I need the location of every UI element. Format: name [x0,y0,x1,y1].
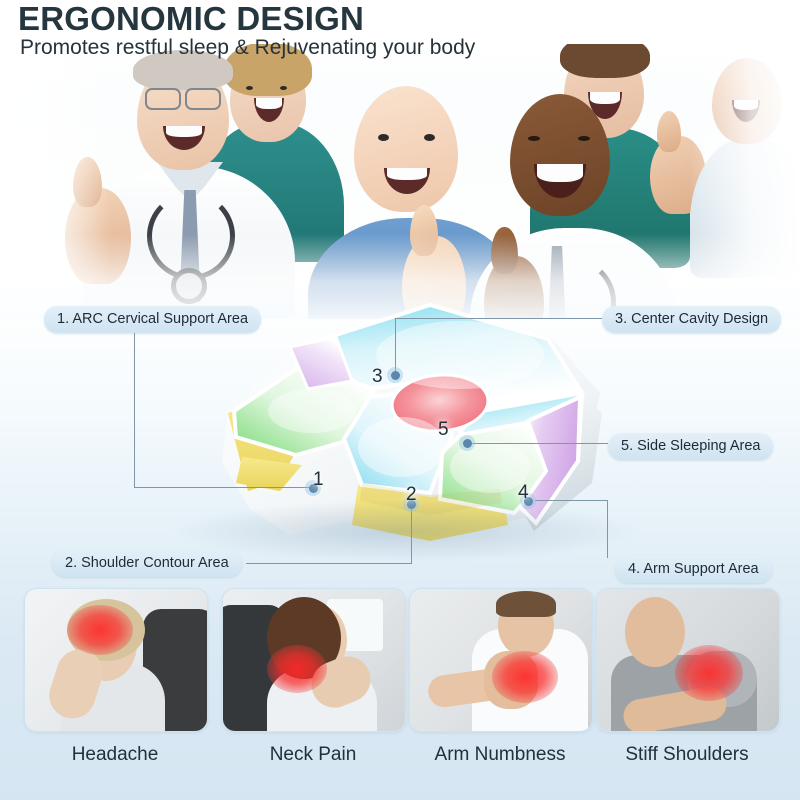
callout-number-5: 5 [438,419,449,441]
doctors-team-photo [0,44,800,319]
condition-card-headache[interactable]: Headache [24,588,206,766]
pain-highlight [492,651,558,703]
infographic-page: ERGONOMIC DESIGN Promotes restful sleep … [0,0,800,800]
condition-card-stiff-shoulders[interactable]: Stiff Shoulders [596,588,778,766]
eyeglasses [185,88,221,110]
eye-left [528,136,540,141]
eye-right [424,134,435,141]
condition-image-stiff-shoulders [596,588,780,732]
callout-dot-5[interactable] [459,435,475,451]
pain-highlight [267,645,327,693]
callout-label-1[interactable]: 1. ARC Cervical Support Area [44,306,261,333]
hair [496,591,556,617]
callout-label-4[interactable]: 4. Arm Support Area [615,556,772,583]
callout-connector-3 [395,318,602,378]
condition-card-neck-pain[interactable]: Neck Pain [222,588,404,766]
pain-highlight [67,605,133,655]
callout-number-1: 1 [313,469,324,491]
condition-image-neck-pain [222,588,406,732]
hair [560,44,650,78]
callout-label-3[interactable]: 3. Center Cavity Design [602,306,781,333]
condition-image-arm-numbness [409,588,593,732]
pain-highlight [675,645,743,701]
callout-connector-4 [535,500,608,560]
callout-number-2: 2 [406,484,417,506]
callout-number-3: 3 [372,366,383,388]
callout-number-4: 4 [518,482,529,504]
condition-caption: Stiff Shoulders [596,744,778,766]
callout-label-5[interactable]: 5. Side Sleeping Area [608,433,773,460]
condition-card-arm-numbness[interactable]: Arm Numbness [409,588,591,766]
callout-connector-1 [134,326,314,488]
callout-dot-3[interactable] [387,367,403,383]
condition-caption: Neck Pain [222,744,404,766]
eye-left [378,134,389,141]
condition-image-headache [24,588,208,732]
conditions-row: Headache Neck Pain [0,588,800,800]
eyeglasses [145,88,181,110]
condition-caption: Arm Numbness [409,744,591,766]
page-subtitle: Promotes restful sleep & Rejuvenating yo… [20,36,475,60]
callout-label-2[interactable]: 2. Shoulder Contour Area [52,550,242,577]
callout-connector-2 [246,504,412,564]
callout-connector-5 [472,443,608,445]
page-title: ERGONOMIC DESIGN [18,0,364,38]
head [625,597,685,667]
eye-right [578,136,590,141]
condition-caption: Headache [24,744,206,766]
